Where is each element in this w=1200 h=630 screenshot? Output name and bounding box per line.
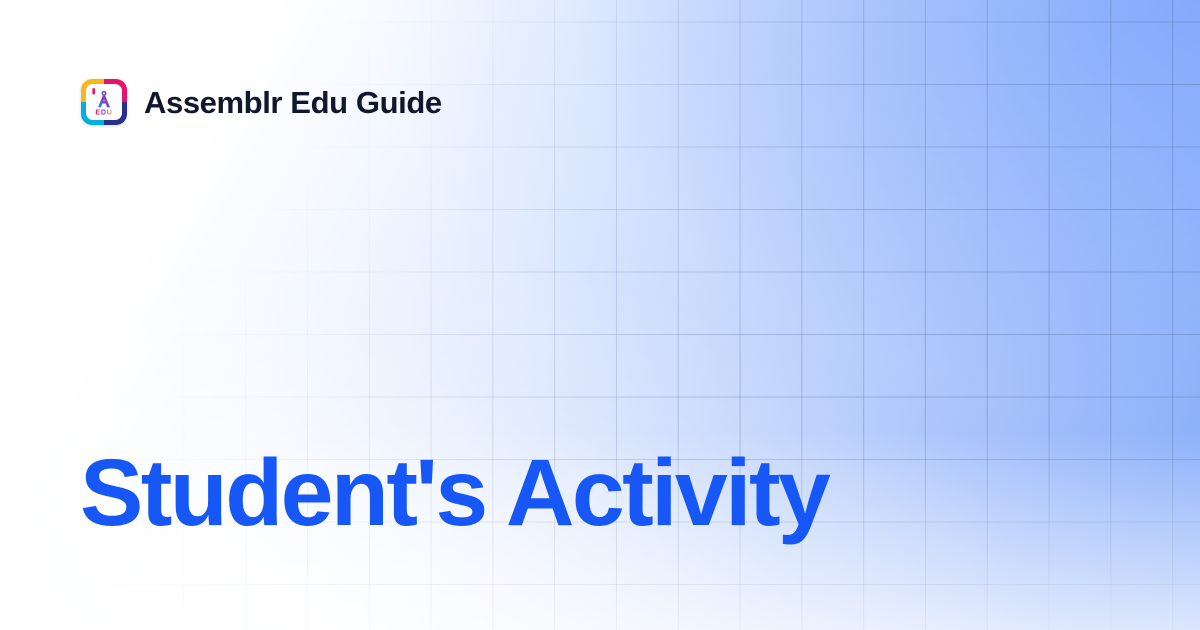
brand-title: Assemblr Edu Guide	[144, 87, 442, 118]
logo-edu-text: EDU	[95, 108, 112, 117]
brand-lockup: EDU Assemblr Edu Guide	[81, 79, 442, 125]
assemblr-edu-logo-icon: EDU	[81, 79, 127, 125]
page-title: Student's Activity	[80, 446, 828, 541]
og-banner: EDU Assemblr Edu Guide Student's Activit…	[0, 0, 1200, 630]
logo-compass-a-mark: EDU	[86, 84, 122, 120]
